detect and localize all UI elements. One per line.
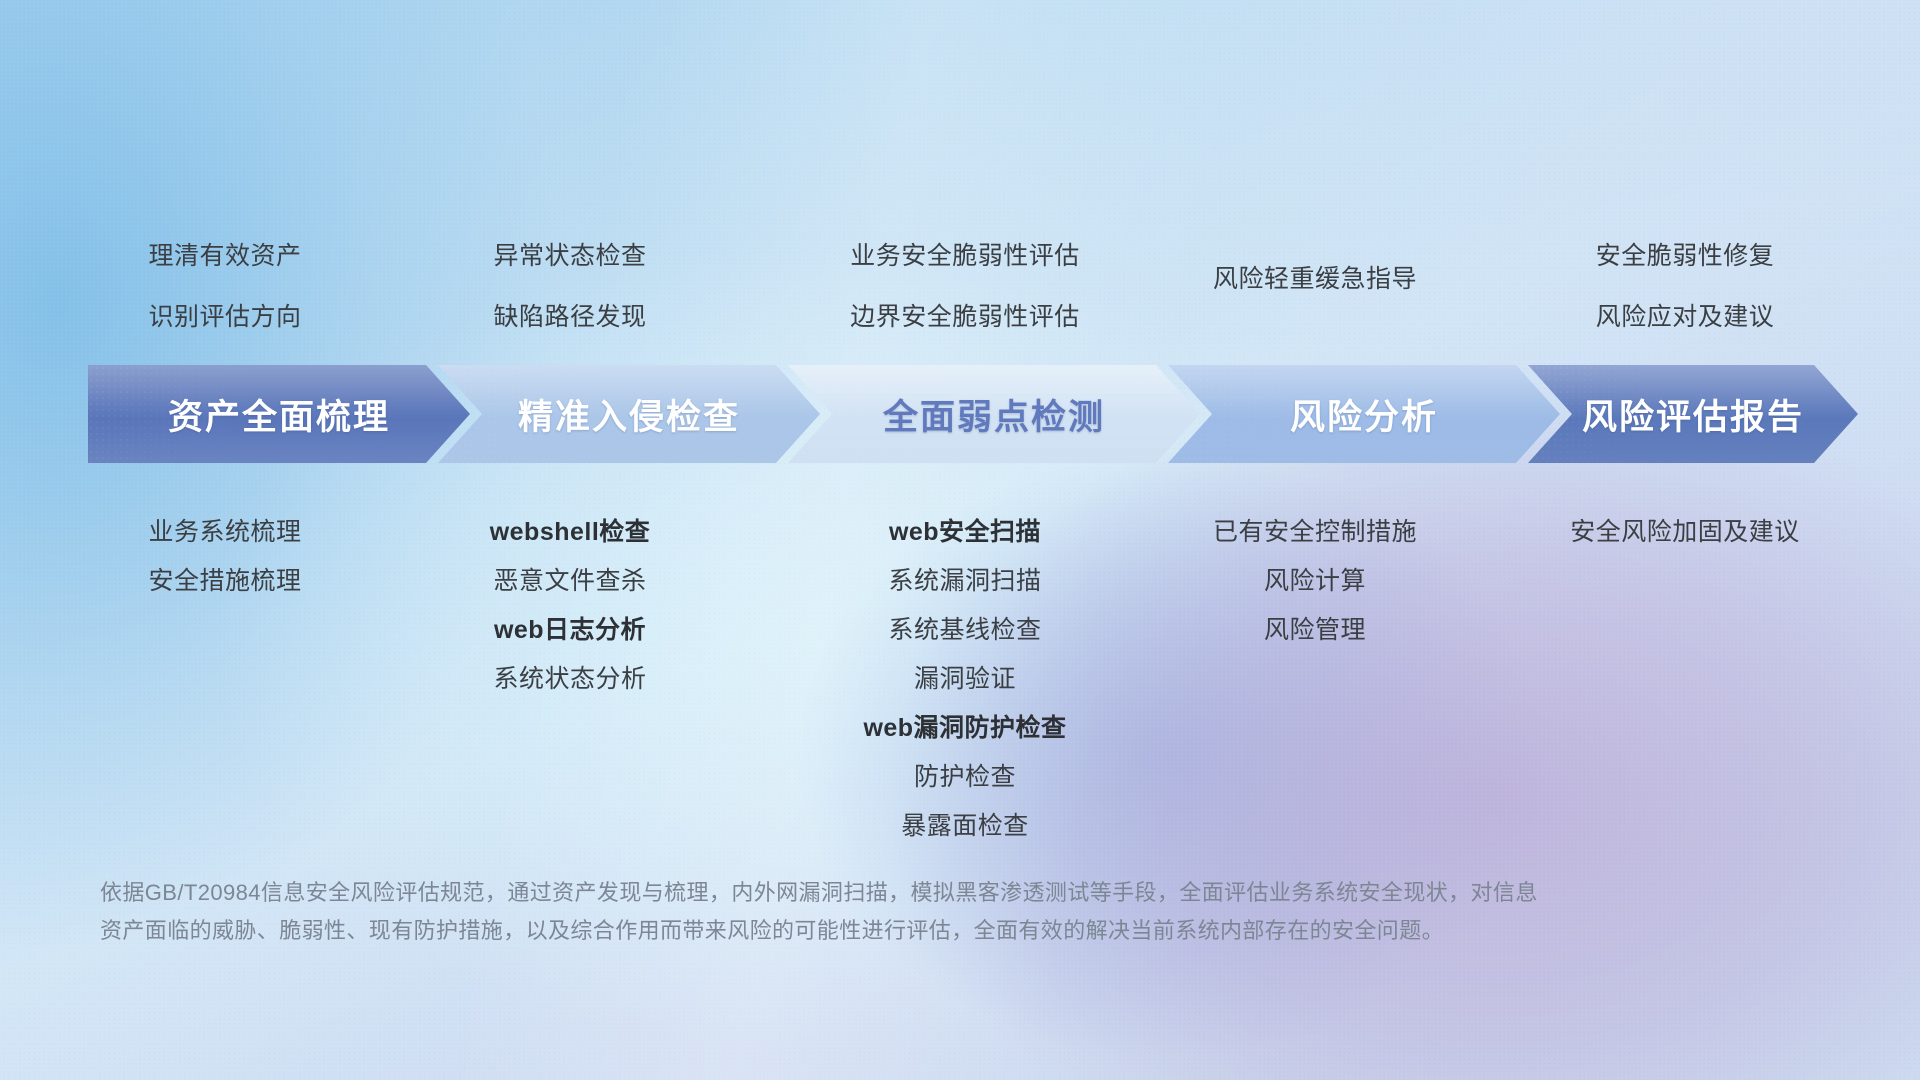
- stage-4-bottom-note: 风险计算: [1115, 569, 1515, 594]
- chevron-stage-5[interactable]: 风险评估报告: [1528, 365, 1858, 463]
- stage-column-3: 业务安全脆弱性评估 边界安全脆弱性评估: [755, 200, 1175, 330]
- stage-1-top-notes: 理清有效资产 识别评估方向: [40, 244, 410, 330]
- chevron-stage-2[interactable]: 精准入侵检查: [438, 365, 820, 463]
- stage-column-1: 理清有效资产 识别评估方向: [40, 200, 410, 330]
- stage-3-top-note: 业务安全脆弱性评估: [755, 244, 1175, 269]
- stage-column-4: 风险轻重缓急指导: [1115, 200, 1515, 330]
- chevron-stage-4-label: 风险分析: [1290, 389, 1438, 440]
- stage-1-bottom-note: 业务系统梳理: [40, 520, 410, 545]
- stage-1-top-note: 识别评估方向: [40, 305, 410, 330]
- stage-3-bottom-note: 防护检查: [755, 765, 1175, 790]
- footer-line-1: 依据GB/T20984信息安全风险评估规范，通过资产发现与梳理，内外网漏洞扫描，…: [100, 874, 1640, 912]
- stage-3-top-note: 边界安全脆弱性评估: [755, 305, 1175, 330]
- stage-4-top-note: 风险轻重缓急指导: [1115, 267, 1515, 292]
- footer-line-2: 资产面临的威胁、脆弱性、现有防护措施，以及综合作用而带来风险的可能性进行评估，全…: [100, 912, 1640, 950]
- chevron-stage-5-label: 风险评估报告: [1582, 389, 1804, 440]
- stage-5-top-note: 风险应对及建议: [1475, 305, 1895, 330]
- stage-1-top-note: 理清有效资产: [40, 244, 410, 269]
- stage-2-bottom-notes: webshell检查 恶意文件查杀 web日志分析 系统状态分析: [385, 520, 755, 716]
- chevron-stage-4[interactable]: 风险分析: [1168, 365, 1560, 463]
- stage-5-bottom-notes: 安全风险加固及建议: [1475, 520, 1895, 569]
- stage-2-top-notes: 异常状态检查 缺陷路径发现: [385, 244, 755, 330]
- stage-2-bottom-note: webshell检查: [385, 520, 755, 545]
- stage-3-bottom-notes: web安全扫描 系统漏洞扫描 系统基线检查 漏洞验证 web漏洞防护检查 防护检…: [755, 520, 1175, 863]
- stage-3-bottom-note: web安全扫描: [755, 520, 1175, 545]
- stage-2-top-note: 缺陷路径发现: [385, 305, 755, 330]
- stage-1-bottom-notes: 业务系统梳理 安全措施梳理: [40, 520, 410, 618]
- stage-2-top-note: 异常状态检查: [385, 244, 755, 269]
- stage-2-bottom-note: 系统状态分析: [385, 667, 755, 692]
- chevron-stage-3[interactable]: 全面弱点检测: [788, 365, 1200, 463]
- stage-4-bottom-note: 风险管理: [1115, 618, 1515, 643]
- stage-3-bottom-note: 暴露面检查: [755, 814, 1175, 839]
- chevron-stage-2-label: 精准入侵检查: [518, 389, 740, 440]
- stage-5-bottom-note: 安全风险加固及建议: [1475, 520, 1895, 545]
- stage-4-top-notes: 风险轻重缓急指导: [1115, 267, 1515, 292]
- stage-3-bottom-note: 漏洞验证: [755, 667, 1175, 692]
- stage-4-bottom-note: 已有安全控制措施: [1115, 520, 1515, 545]
- stage-3-bottom-note: 系统漏洞扫描: [755, 569, 1175, 594]
- stage-4-bottom-notes: 已有安全控制措施 风险计算 风险管理: [1115, 520, 1515, 667]
- chevron-stage-3-label: 全面弱点检测: [883, 389, 1105, 440]
- chevron-stage-1-label: 资产全面梳理: [168, 389, 390, 440]
- stage-5-top-notes: 安全脆弱性修复 风险应对及建议: [1475, 244, 1895, 330]
- chevron-stage-1[interactable]: 资产全面梳理: [88, 365, 470, 463]
- stage-column-2: 异常状态检查 缺陷路径发现: [385, 200, 755, 330]
- footer-description: 依据GB/T20984信息安全风险评估规范，通过资产发现与梳理，内外网漏洞扫描，…: [100, 874, 1640, 950]
- stage-3-top-notes: 业务安全脆弱性评估 边界安全脆弱性评估: [755, 244, 1175, 330]
- stage-column-5: 安全脆弱性修复 风险应对及建议: [1475, 200, 1895, 330]
- stage-3-bottom-note: 系统基线检查: [755, 618, 1175, 643]
- stage-1-bottom-note: 安全措施梳理: [40, 569, 410, 594]
- process-chevron-band: 资产全面梳理 精准入侵检查 全面弱点检测 风险分析 风险评估报告: [88, 365, 1858, 463]
- process-diagram: 理清有效资产 识别评估方向 业务系统梳理 安全措施梳理 异常状态检查 缺陷路径发…: [0, 0, 1920, 1080]
- stage-2-bottom-note: web日志分析: [385, 618, 755, 643]
- stage-2-bottom-note: 恶意文件查杀: [385, 569, 755, 594]
- stage-5-top-note: 安全脆弱性修复: [1475, 244, 1895, 269]
- stage-3-bottom-note: web漏洞防护检查: [755, 716, 1175, 741]
